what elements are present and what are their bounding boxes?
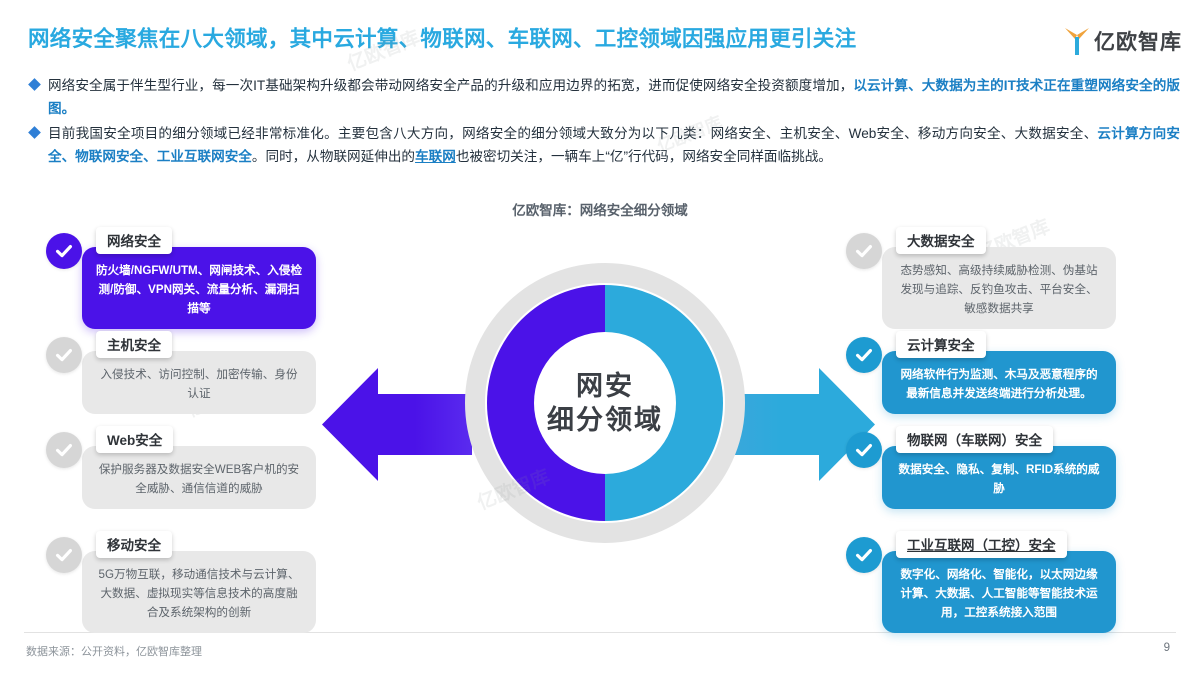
donut-svg <box>465 263 745 543</box>
check-circle-icon <box>46 432 82 468</box>
brand-logo: 亿欧智库 <box>1064 26 1182 56</box>
card-body-text: 态势感知、高级持续威胁检测、伪基站发现与追踪、反钓鱼攻击、平台安全、敏感数据共享 <box>882 247 1116 329</box>
card-body-text: 网络软件行为监测、木马及恶意程序的最新信息并发送终端进行分析处理。 <box>882 351 1116 414</box>
card-label: 移动安全 <box>96 531 172 558</box>
check-icon <box>54 241 74 261</box>
text-segment: 网络安全属于伴生型行业，每一次IT基础架构升级都会带动网络安全产品的升级和应用边… <box>48 78 853 93</box>
text-segment: 目前我国安全项目的细分领域已经非常标准化。主要包含八大方向，网络安全的细分领域大… <box>48 126 1097 141</box>
check-icon <box>854 545 874 565</box>
source-note: 数据来源：公开资料，亿欧智库整理 <box>26 643 202 659</box>
logo-mark-icon <box>1064 26 1090 56</box>
page-title: 网络安全聚焦在八大领域，其中云计算、物联网、车联网、工控领域因强应用更引关注 <box>28 22 988 53</box>
card-label: 工业互联网（工控）安全 <box>896 531 1067 558</box>
diagram-area: 网安 细分领域 防火墙/NGFW/UTM、网闸技术、入侵检测/防御、VPN网关、… <box>0 215 1200 635</box>
check-circle-icon <box>846 537 882 573</box>
bullet-paragraph-2: 目前我国安全项目的细分领域已经非常标准化。主要包含八大方向，网络安全的细分领域大… <box>30 122 1180 168</box>
text-segment: 也被密切关注，一辆车上“亿”行代码，网络安全同样面临挑战。 <box>456 149 832 164</box>
slide-header: 网络安全聚焦在八大领域，其中云计算、物联网、车联网、工控领域因强应用更引关注 亿… <box>0 0 1200 62</box>
card-body-text: 入侵技术、访问控制、加密传输、身份认证 <box>82 351 316 414</box>
bullet-diamond-icon <box>28 126 41 139</box>
check-circle-icon <box>46 337 82 373</box>
check-icon <box>854 440 874 460</box>
check-circle-icon <box>846 337 882 373</box>
check-icon <box>54 345 74 365</box>
card-label: Web安全 <box>96 426 173 453</box>
card-label: 物联网（车联网）安全 <box>896 426 1053 453</box>
check-circle-icon <box>846 432 882 468</box>
slide-root: 网络安全聚焦在八大领域，其中云计算、物联网、车联网、工控领域因强应用更引关注 亿… <box>0 0 1200 675</box>
bullet-text-1: 网络安全属于伴生型行业，每一次IT基础架构升级都会带动网络安全产品的升级和应用边… <box>48 74 1180 120</box>
check-icon <box>854 345 874 365</box>
bullet-text-2: 目前我国安全项目的细分领域已经非常标准化。主要包含八大方向，网络安全的细分领域大… <box>48 122 1180 168</box>
card-body-text: 数字化、网络化、智能化，以太网边缘计算、大数据、人工智能等智能技术运用，工控系统… <box>882 551 1116 633</box>
logo-text: 亿欧智库 <box>1094 26 1182 56</box>
card-body-text: 防火墙/NGFW/UTM、网闸技术、入侵检测/防御、VPN网关、流量分析、漏洞扫… <box>82 247 316 329</box>
bullet-diamond-icon <box>28 78 41 91</box>
card-body-text: 保护服务器及数据安全WEB客户机的安全威胁、通信信道的威胁 <box>82 446 316 509</box>
card-label: 大数据安全 <box>896 227 986 254</box>
card-label: 网络安全 <box>96 227 172 254</box>
check-circle-icon <box>846 233 882 269</box>
card-body-text: 5G万物互联，移动通信技术与云计算、大数据、虚拟现实等信息技术的高度融合及系统架… <box>82 551 316 633</box>
card-label: 云计算安全 <box>896 331 986 358</box>
bullet-paragraph-1: 网络安全属于伴生型行业，每一次IT基础架构升级都会带动网络安全产品的升级和应用边… <box>30 74 1180 120</box>
check-icon <box>54 545 74 565</box>
check-circle-icon <box>46 537 82 573</box>
card-label: 主机安全 <box>96 331 172 358</box>
check-circle-icon <box>46 233 82 269</box>
arrow-left-icon <box>322 368 472 481</box>
card-body-text: 数据安全、隐私、复制、RFID系统的威胁 <box>882 446 1116 509</box>
text-segment: 。同时，从物联网延伸出的 <box>252 149 415 164</box>
page-number: 9 <box>1164 642 1170 654</box>
check-icon <box>54 440 74 460</box>
text-segment: 车联网 <box>415 149 456 164</box>
check-icon <box>854 241 874 261</box>
donut-chart: 网安 细分领域 <box>465 263 745 543</box>
